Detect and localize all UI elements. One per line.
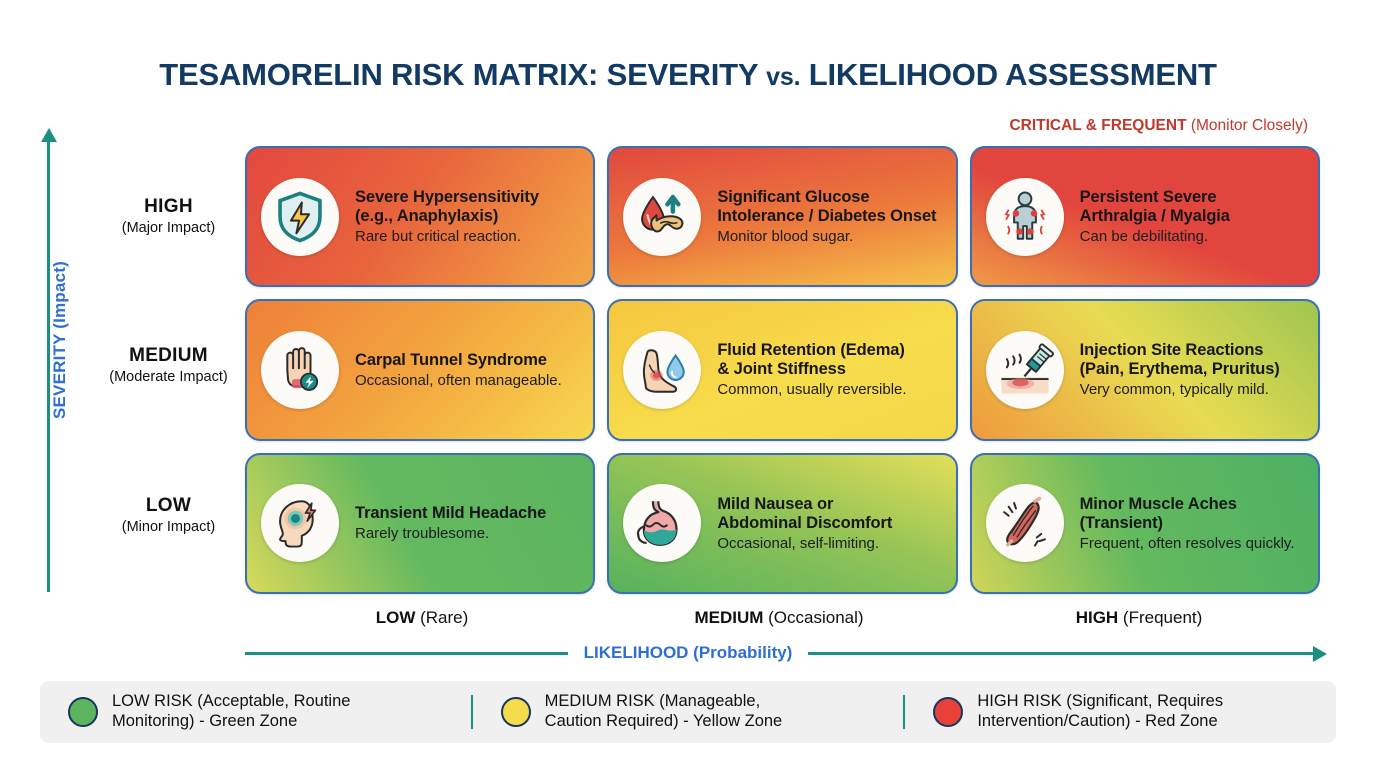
legend: LOW RISK (Acceptable, Routine Monitoring…	[40, 681, 1336, 743]
cell-title-line2: (e.g., Anaphylaxis)	[355, 207, 539, 226]
legend-text: LOW RISK (Acceptable, Routine Monitoring…	[112, 692, 350, 732]
cell-text: Mild Nausea or Abdominal Discomfort Occa…	[717, 495, 892, 553]
cell-title-line2: & Joint Stiffness	[717, 360, 906, 379]
cell-text: Transient Mild Headache Rarely troubleso…	[355, 504, 546, 543]
cell-description: Very common, typically mild.	[1080, 381, 1280, 398]
title-vs: vs.	[766, 63, 800, 91]
shield-lightning-icon	[261, 178, 339, 256]
cell-title-line2: Arthralgia / Myalgia	[1080, 207, 1230, 226]
cell-description: Monitor blood sugar.	[717, 228, 936, 245]
critical-annotation-strong: CRITICAL & FREQUENT	[1009, 117, 1186, 134]
cell-text: Injection Site Reactions (Pain, Erythema…	[1080, 341, 1280, 399]
col-label-low-level: LOW	[376, 608, 416, 627]
legend-medium-line2: Caution Required) - Yellow Zone	[545, 712, 783, 732]
critical-frequent-annotation: CRITICAL & FREQUENT (Monitor Closely)	[1009, 117, 1308, 135]
page-title: TESAMORELIN RISK MATRIX: SEVERITY vs. LI…	[0, 57, 1376, 93]
legend-swatch-red-icon	[933, 697, 963, 727]
stomach-icon	[623, 484, 701, 562]
cell-description: Occasional, often manageable.	[355, 372, 562, 389]
cell-description: Can be debilitating.	[1080, 228, 1230, 245]
cell-description: Rare but critical reaction.	[355, 228, 539, 245]
title-part-1: TESAMORELIN RISK MATRIX: SEVERITY	[159, 57, 766, 92]
col-label-high-level: HIGH	[1076, 608, 1119, 627]
legend-low-line1: LOW RISK (Acceptable, Routine	[112, 692, 350, 712]
row-label-low: LOW (Minor Impact)	[96, 495, 241, 535]
cell-title-line2: Intolerance / Diabetes Onset	[717, 207, 936, 226]
cell-text: Persistent Severe Arthralgia / Myalgia C…	[1080, 188, 1230, 246]
row-label-medium-sub: (Moderate Impact)	[96, 369, 241, 385]
head-headache-icon	[261, 484, 339, 562]
matrix-cell-medium-high[interactable]: Injection Site Reactions (Pain, Erythema…	[970, 299, 1320, 440]
matrix-cell-high-medium[interactable]: Significant Glucose Intolerance / Diabet…	[607, 146, 957, 287]
matrix-cell-low-low[interactable]: Transient Mild Headache Rarely troubleso…	[245, 453, 595, 594]
risk-matrix-infographic: TESAMORELIN RISK MATRIX: SEVERITY vs. LI…	[0, 0, 1376, 768]
cell-title-line1: Fluid Retention (Edema)	[717, 341, 906, 360]
cell-title-line1: Significant Glucose	[717, 188, 936, 207]
row-label-low-level: LOW	[96, 495, 241, 517]
legend-item-low-risk: LOW RISK (Acceptable, Routine Monitoring…	[40, 692, 471, 732]
row-label-high: HIGH (Major Impact)	[96, 196, 241, 236]
cell-title-line2: Abdominal Discomfort	[717, 514, 892, 533]
syringe-injection-icon	[986, 331, 1064, 409]
col-label-low: LOW (Rare)	[243, 608, 601, 628]
muscle-icon	[986, 484, 1064, 562]
cell-title-line2: (Pain, Erythema, Pruritus)	[1080, 360, 1280, 379]
col-label-high: HIGH (Frequent)	[960, 608, 1318, 628]
legend-text: HIGH RISK (Significant, Requires Interve…	[977, 692, 1223, 732]
cell-text: Fluid Retention (Edema) & Joint Stiffnes…	[717, 341, 906, 399]
cell-title-line2: (Transient)	[1080, 514, 1295, 533]
cell-text: Minor Muscle Aches (Transient) Frequent,…	[1080, 495, 1295, 553]
col-label-low-sub: (Rare)	[415, 608, 468, 627]
legend-swatch-yellow-icon	[501, 697, 531, 727]
hand-wrist-pain-icon	[261, 331, 339, 409]
row-label-high-level: HIGH	[96, 196, 241, 218]
col-label-high-sub: (Frequent)	[1118, 608, 1202, 627]
row-label-medium: MEDIUM (Moderate Impact)	[96, 345, 241, 385]
legend-item-medium-risk: MEDIUM RISK (Manageable, Caution Require…	[473, 692, 904, 732]
swollen-foot-water-drop-icon	[623, 331, 701, 409]
matrix-cell-medium-medium[interactable]: Fluid Retention (Edema) & Joint Stiffnes…	[607, 299, 957, 440]
cell-title-line1: Transient Mild Headache	[355, 504, 546, 523]
severity-axis-label: SEVERITY (Impact)	[50, 210, 70, 470]
cell-title-line1: Severe Hypersensitivity	[355, 188, 539, 207]
critical-annotation-paren: (Monitor Closely)	[1187, 117, 1308, 134]
col-label-medium: MEDIUM (Occasional)	[600, 608, 958, 628]
row-label-low-sub: (Minor Impact)	[96, 519, 241, 535]
legend-low-line2: Monitoring) - Green Zone	[112, 712, 350, 732]
likelihood-axis-label: LIKELIHOOD (Probability)	[568, 643, 809, 662]
row-label-high-sub: (Major Impact)	[96, 220, 241, 236]
matrix-cell-medium-low[interactable]: Carpal Tunnel Syndrome Occasional, often…	[245, 299, 595, 440]
legend-swatch-green-icon	[68, 697, 98, 727]
cell-title-line1: Mild Nausea or	[717, 495, 892, 514]
matrix-cell-low-medium[interactable]: Mild Nausea or Abdominal Discomfort Occa…	[607, 453, 957, 594]
body-pain-icon	[986, 178, 1064, 256]
cell-description: Frequent, often resolves quickly.	[1080, 535, 1295, 552]
legend-medium-line1: MEDIUM RISK (Manageable,	[545, 692, 783, 712]
matrix-cell-low-high[interactable]: Minor Muscle Aches (Transient) Frequent,…	[970, 453, 1320, 594]
cell-description: Occasional, self-limiting.	[717, 535, 892, 552]
blood-drop-pancreas-icon	[623, 178, 701, 256]
cell-text: Severe Hypersensitivity (e.g., Anaphylax…	[355, 188, 539, 246]
col-label-medium-level: MEDIUM	[694, 608, 763, 627]
cell-title-line1: Persistent Severe	[1080, 188, 1230, 207]
cell-description: Rarely troublesome.	[355, 525, 546, 542]
cell-title-line1: Injection Site Reactions	[1080, 341, 1280, 360]
title-part-2: LIKELIHOOD ASSESSMENT	[800, 57, 1216, 92]
cell-text: Significant Glucose Intolerance / Diabet…	[717, 188, 936, 246]
cell-title-line1: Minor Muscle Aches	[1080, 495, 1295, 514]
col-label-medium-sub: (Occasional)	[763, 608, 863, 627]
likelihood-axis-label-wrap: LIKELIHOOD (Probability)	[0, 643, 1376, 663]
matrix-cell-high-low[interactable]: Severe Hypersensitivity (e.g., Anaphylax…	[245, 146, 595, 287]
cell-title-line1: Carpal Tunnel Syndrome	[355, 351, 562, 370]
matrix-cell-high-high[interactable]: Persistent Severe Arthralgia / Myalgia C…	[970, 146, 1320, 287]
legend-item-high-risk: HIGH RISK (Significant, Requires Interve…	[905, 692, 1336, 732]
risk-matrix-grid: Severe Hypersensitivity (e.g., Anaphylax…	[245, 146, 1320, 594]
legend-high-line1: HIGH RISK (Significant, Requires	[977, 692, 1223, 712]
legend-high-line2: Intervention/Caution) - Red Zone	[977, 712, 1223, 732]
cell-description: Common, usually reversible.	[717, 381, 906, 398]
legend-text: MEDIUM RISK (Manageable, Caution Require…	[545, 692, 783, 732]
cell-text: Carpal Tunnel Syndrome Occasional, often…	[355, 351, 562, 390]
row-label-medium-level: MEDIUM	[96, 345, 241, 367]
